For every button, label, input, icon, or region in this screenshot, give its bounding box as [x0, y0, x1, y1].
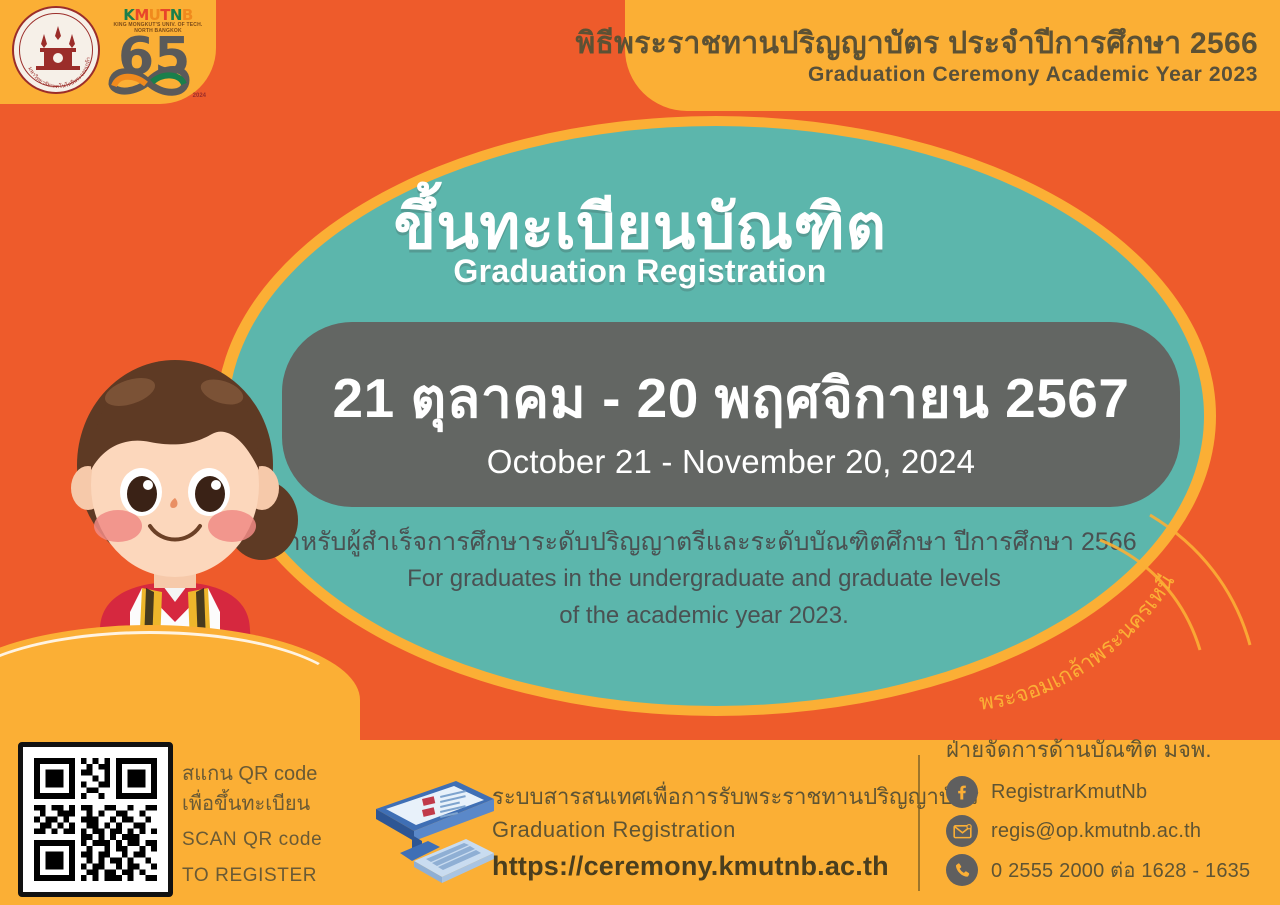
- email-address: regis@op.kmutnb.ac.th: [991, 820, 1201, 843]
- desc-thai: สำหรับผู้สำเร็จการศึกษาระดับปริญญาตรีและ…: [228, 524, 1180, 560]
- registration-system-info: ระบบสารสนเทศเพื่อการรับพระราชทานปริญญาบั…: [492, 781, 979, 885]
- date-badge: 21 ตุลาคม - 20 พฤศจิกายน 2567 October 21…: [282, 322, 1180, 507]
- email-icon: [946, 815, 978, 847]
- qr-instructions: สแกน QR code เพื่อขึ้นทะเบียน SCAN QR co…: [182, 759, 322, 891]
- phone-icon: [946, 854, 978, 886]
- page-title-english: Graduation Registration: [0, 253, 1280, 290]
- system-name-english: Graduation Registration: [492, 813, 979, 847]
- anniversary-year: 2024: [193, 93, 206, 99]
- qr-thai-line-1: สแกน QR code: [182, 759, 322, 789]
- footer-divider: [918, 755, 920, 891]
- registration-url[interactable]: https://ceremony.kmutnb.ac.th: [492, 847, 979, 885]
- phone-number: 0 2555 2000 ต่อ 1628 - 1635: [991, 854, 1250, 886]
- university-seal-icon: มหาวิทยาลัยเทคโนโลยีพระจอมเกล้าพระนครเหน…: [12, 6, 100, 94]
- qr-english-line-2: TO REGISTER: [182, 861, 322, 891]
- contact-block: ฝ่ายจัดการด้านบัณฑิต มจพ. RegistrarKmutN…: [946, 732, 1250, 893]
- anniversary-65-logo: KMUTNB KING MONGKUT'S UNIV. OF TECH. NOR…: [104, 4, 208, 100]
- contact-row-facebook[interactable]: RegistrarKmutNb: [946, 776, 1250, 808]
- eligibility-description: สำหรับผู้สำเร็จการศึกษาระดับปริญญาตรีและ…: [228, 524, 1180, 634]
- desc-english-line-2: of the academic year 2023.: [228, 597, 1180, 634]
- contact-row-phone[interactable]: 0 2555 2000 ต่อ 1628 - 1635: [946, 854, 1250, 886]
- qr-code-icon[interactable]: [18, 742, 173, 897]
- header-title-panel: พิธีพระราชทานปริญญาบัตร ประจำปีการศึกษา …: [625, 0, 1280, 111]
- contact-title: ฝ่ายจัดการด้านบัณฑิต มจพ.: [946, 732, 1250, 767]
- header-title-english: Graduation Ceremony Academic Year 2023: [808, 63, 1258, 87]
- date-thai: 21 ตุลาคม - 20 พฤศจิกายน 2567: [282, 355, 1180, 442]
- contact-row-email[interactable]: regis@op.kmutnb.ac.th: [946, 815, 1250, 847]
- facebook-handle: RegistrarKmutNb: [991, 781, 1147, 804]
- header-title-thai: พิธีพระราชทานปริญญาบัตร ประจำปีการศึกษา …: [576, 20, 1259, 67]
- desc-english-line-1: For graduates in the undergraduate and g…: [228, 560, 1180, 597]
- date-english: October 21 - November 20, 2024: [282, 443, 1180, 481]
- poster-root: มหาวิทยาลัยเทคโนโลยีพระจอมเกล้าพระนครเหน…: [0, 0, 1280, 905]
- desktop-computer-icon: [370, 769, 500, 887]
- qr-thai-line-2: เพื่อขึ้นทะเบียน: [182, 789, 322, 819]
- qr-english-line-1: SCAN QR code: [182, 825, 322, 855]
- facebook-icon: [946, 776, 978, 808]
- system-name-thai: ระบบสารสนเทศเพื่อการรับพระราชทานปริญญาบั…: [492, 781, 979, 813]
